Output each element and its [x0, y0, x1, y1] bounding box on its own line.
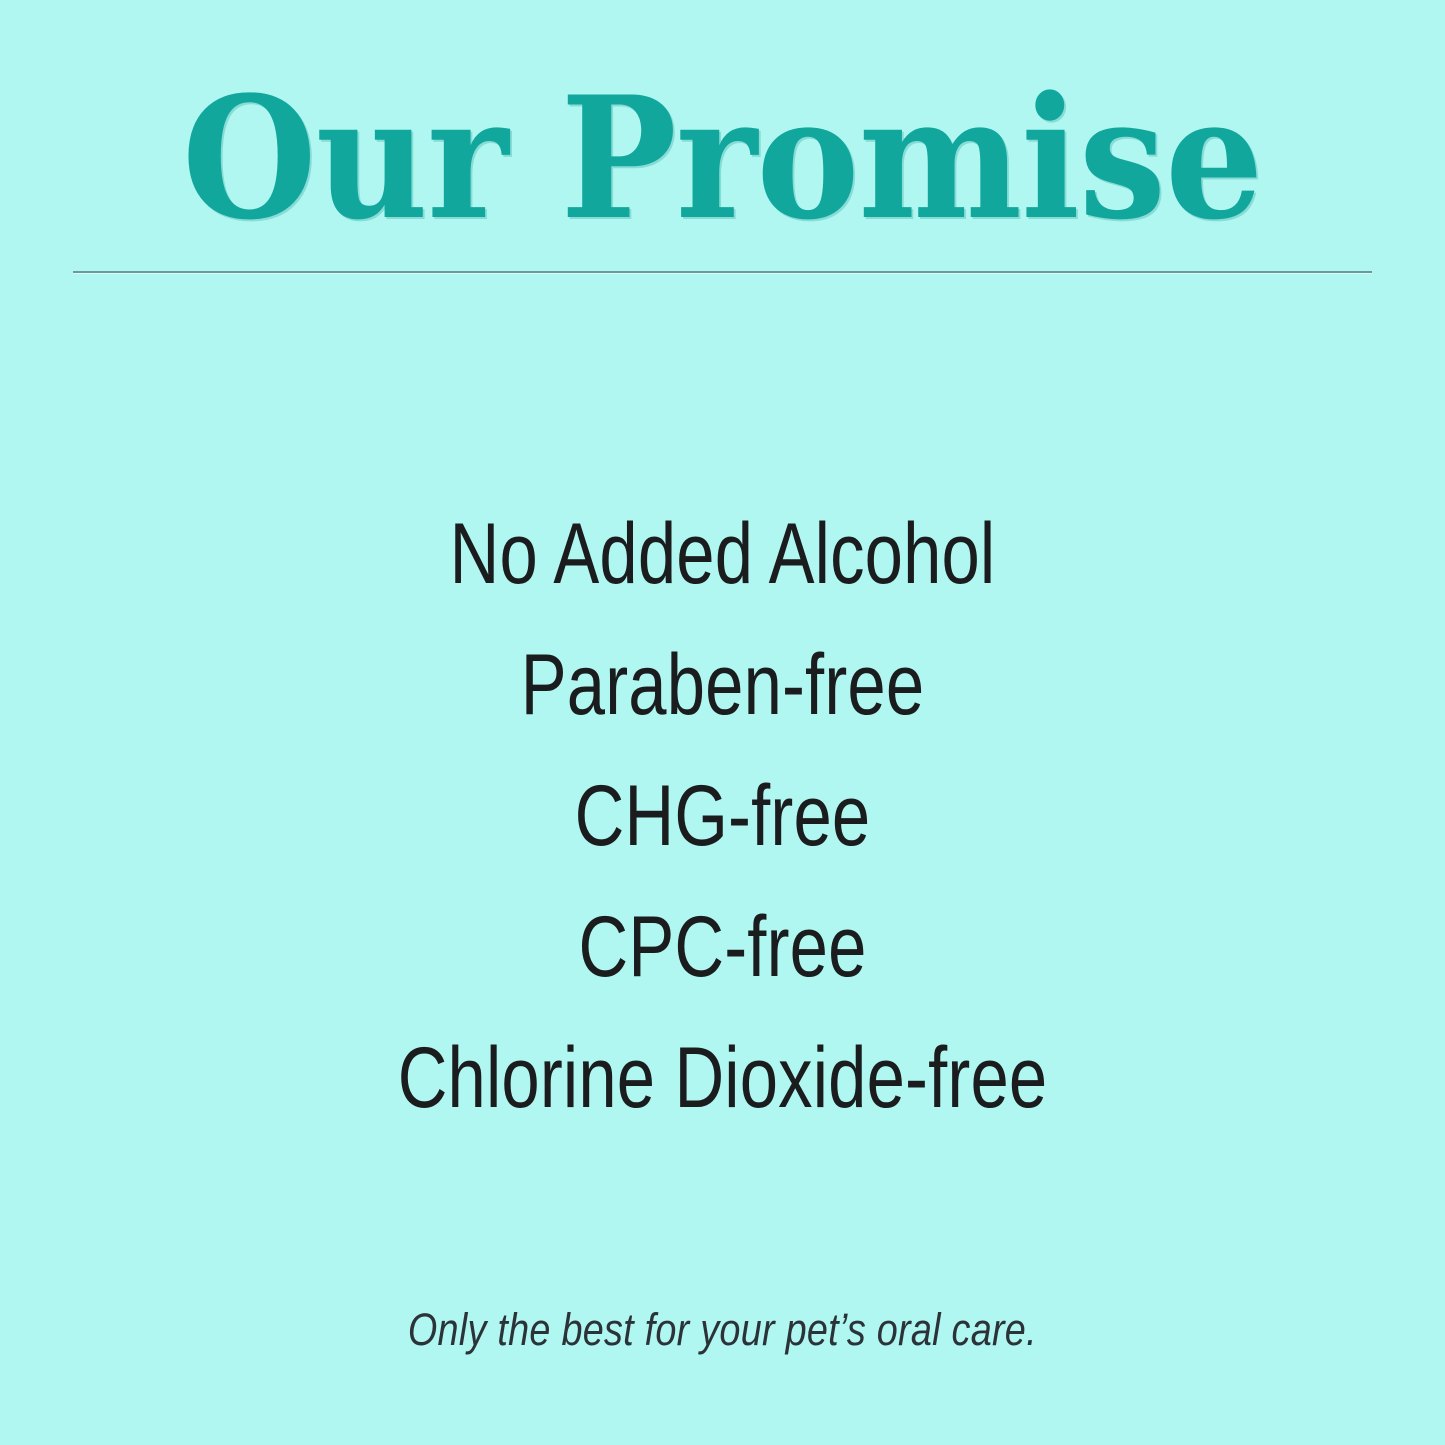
- list-item: CPC-free: [145, 882, 1301, 1013]
- page-title: Our Promise: [0, 74, 1445, 242]
- footer-tagline: Only the best for your pet’s oral care.: [0, 1302, 1445, 1358]
- list-item: CHG-free: [145, 751, 1301, 882]
- list-item: Paraben-free: [145, 620, 1301, 751]
- footer-tagline-text: Only the best for your pet’s oral care.: [408, 1302, 1037, 1358]
- list-item: No Added Alcohol: [145, 489, 1301, 620]
- promise-list: No Added Alcohol Paraben-free CHG-free C…: [0, 489, 1445, 1144]
- title-divider: [73, 271, 1372, 273]
- our-promise-poster: Our Promise No Added Alcohol Paraben-fre…: [0, 0, 1445, 1445]
- page-title-text: Our Promise: [182, 74, 1262, 242]
- list-item: Chlorine Dioxide-free: [145, 1013, 1301, 1144]
